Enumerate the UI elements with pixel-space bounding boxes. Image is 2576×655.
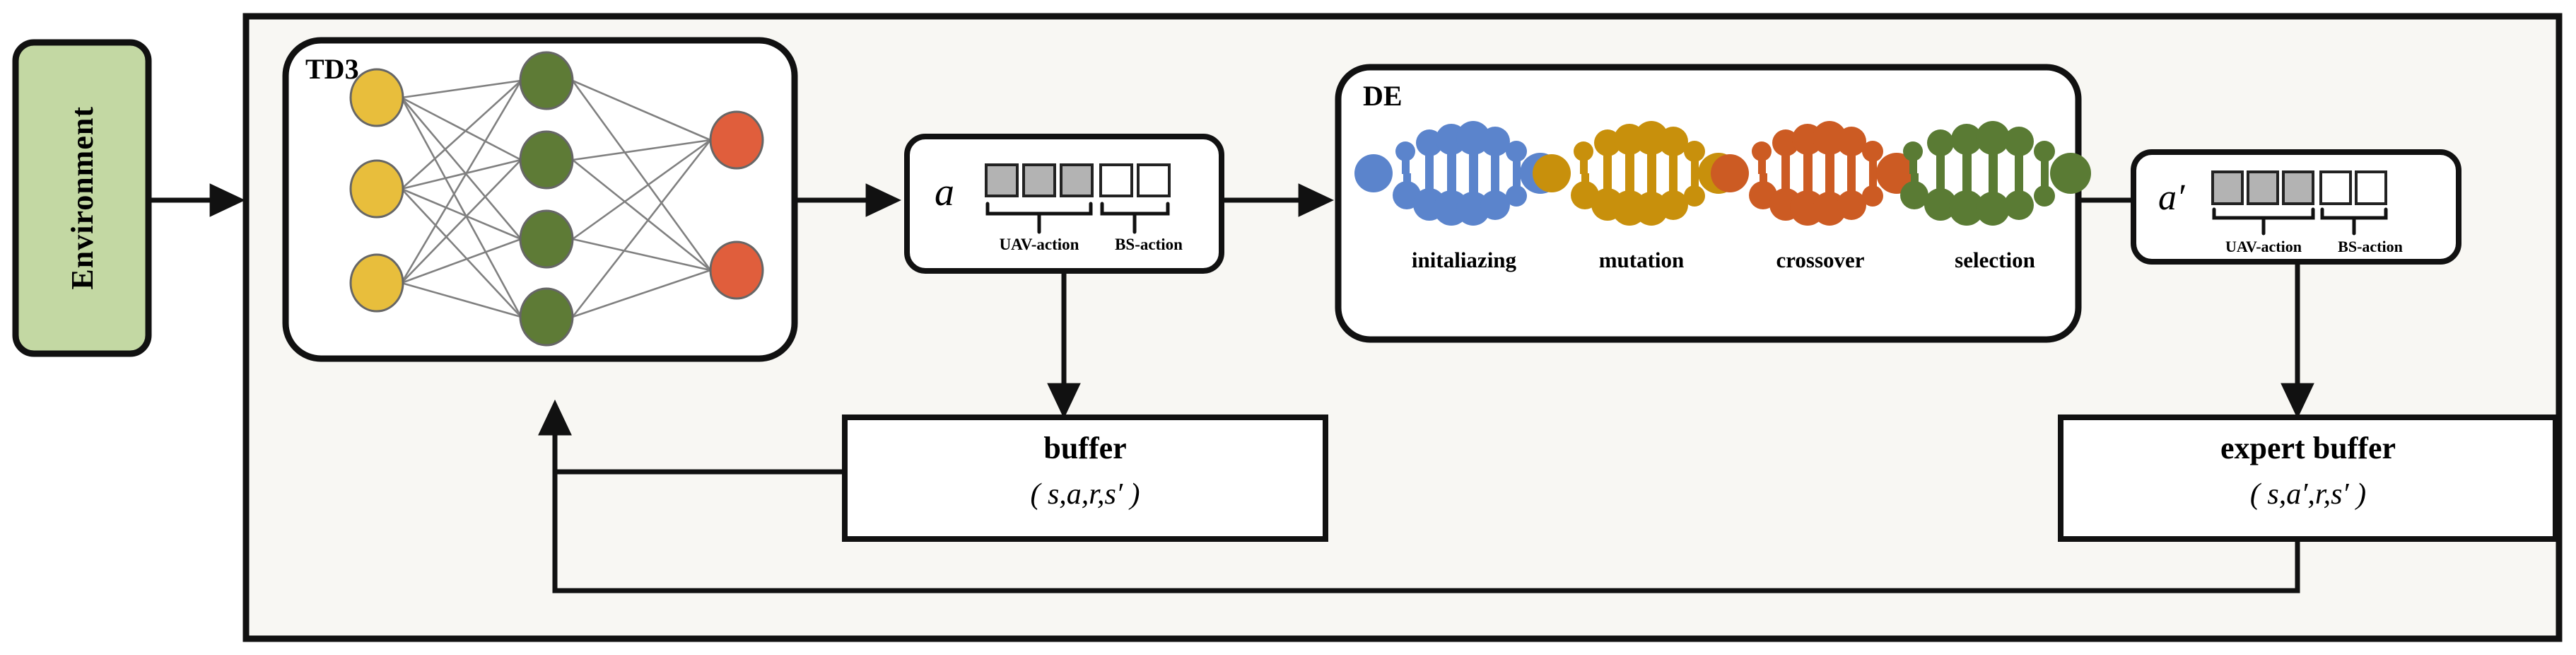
action-prime-bs-label: BS-action <box>2321 238 2420 256</box>
buffer-text-wrap: buffer ( s,a,r,s′ ) <box>845 417 1325 539</box>
nn-node-hidden-2 <box>520 132 573 188</box>
td3-title: TD3 <box>305 52 359 86</box>
nn-node-input-2 <box>351 161 403 217</box>
de-stage-label-initaliazing: initaliazing <box>1376 248 1552 273</box>
de-stage-label-selection: selection <box>1917 248 2073 273</box>
expert-buffer-tuple: ( s,a′,r,s′ ) <box>2061 477 2555 511</box>
diagram-vector-layer <box>0 0 2576 655</box>
expert-buffer-name: expert buffer <box>2061 430 2555 466</box>
action-prime-cell-bs-1 <box>2321 172 2350 204</box>
de-stage-label-crossover: crossover <box>1735 248 1905 273</box>
action-cells <box>986 165 1169 196</box>
de-title: DE <box>1363 79 1403 112</box>
nn-node-input-3 <box>351 255 403 311</box>
environment-box <box>16 42 148 354</box>
action-cell-bs-2 <box>1138 165 1169 196</box>
action-prime-cell-uav-1 <box>2213 172 2242 204</box>
action-prime-cell-uav-3 <box>2283 172 2313 204</box>
action-prime-cells <box>2213 172 2386 204</box>
diagram-canvas: Environment TD3 DE a UAV-action BS-actio… <box>0 0 2576 655</box>
action-prime-cell-uav-2 <box>2248 172 2278 204</box>
nn-node-output-2 <box>710 242 763 298</box>
nn-node-hidden-3 <box>520 211 573 267</box>
nn-node-output-1 <box>710 112 763 168</box>
action-cell-bs-1 <box>1101 165 1132 196</box>
action-prime-cell-bs-2 <box>2356 172 2386 204</box>
de-stage-label-mutation: mutation <box>1560 248 1723 273</box>
action-cell-uav-3 <box>1061 165 1092 196</box>
action-uav-label: UAV-action <box>976 236 1103 254</box>
action-cell-uav-1 <box>986 165 1017 196</box>
action-prime-symbol: a′ <box>2158 177 2184 219</box>
nn-node-hidden-4 <box>520 289 573 345</box>
buffer-name: buffer <box>845 430 1325 466</box>
buffer-tuple: ( s,a,r,s′ ) <box>845 477 1325 511</box>
expert-buffer-text-wrap: expert buffer ( s,a′,r,s′ ) <box>2061 417 2555 539</box>
nn-node-hidden-1 <box>520 52 573 109</box>
nn-input-nodes <box>351 69 403 311</box>
action-cell-uav-2 <box>1024 165 1055 196</box>
action-symbol: a <box>935 170 954 215</box>
action-bs-label: BS-action <box>1099 236 1198 254</box>
action-prime-uav-label: UAV-action <box>2200 238 2327 256</box>
